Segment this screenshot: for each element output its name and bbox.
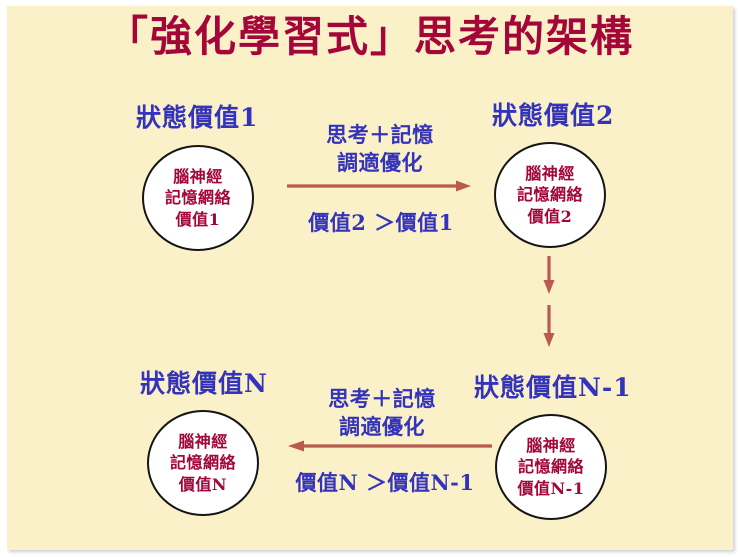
node-3-line-1: 腦神經: [526, 435, 576, 457]
arrow-bottom-left: [286, 438, 494, 454]
page-title: 「強化學習式」思考的架構: [0, 14, 740, 60]
slide-canvas: 「強化學習式」思考的架構 狀態價值1 腦神經 記憶網絡 價值1 狀態價值2 腦神…: [0, 0, 740, 557]
node-4-line-2: 記憶網絡: [170, 452, 236, 474]
node-state-n-minus-1[interactable]: 腦神經 記憶網絡 價值N-1: [495, 414, 607, 520]
node-1-line-2: 記憶網絡: [165, 187, 231, 209]
edge-top-label-above-1: 思考＋記憶: [290, 122, 470, 148]
state-label-1: 狀態價值1: [136, 98, 258, 134]
state-label-n: 狀態價值N: [140, 364, 268, 400]
slide-background: [7, 6, 733, 550]
state-label-2: 狀態價值2: [492, 96, 614, 132]
node-state-1[interactable]: 腦神經 記憶網絡 價值1: [142, 145, 254, 251]
node-3-line-3: 價值N-1: [518, 478, 585, 500]
node-1-line-1: 腦神經: [173, 166, 223, 188]
node-2-line-2: 記憶網絡: [517, 184, 583, 206]
state-label-n-minus-1: 狀態價值N-1: [474, 368, 632, 404]
arrow-right-down-1: [540, 256, 558, 296]
node-2-line-3: 價值2: [528, 206, 573, 228]
arrow-right-down-2: [540, 305, 558, 349]
edge-top-label-above-2: 調適優化: [290, 150, 470, 176]
node-4-line-3: 價值N: [179, 474, 227, 496]
node-4-line-1: 腦神經: [178, 431, 228, 453]
edge-top-label-below: 價值2 ＞價值1: [286, 210, 476, 236]
node-state-2[interactable]: 腦神經 記憶網絡 價值2: [494, 142, 606, 248]
edge-bottom-label-below: 價值N ＞價值N-1: [280, 470, 490, 496]
edge-bottom-label-above-2: 調適優化: [292, 414, 472, 440]
arrow-top-right: [285, 178, 475, 194]
node-state-n[interactable]: 腦神經 記憶網絡 價值N: [147, 410, 259, 516]
node-2-line-1: 腦神經: [525, 163, 575, 185]
node-3-line-2: 記憶網絡: [518, 456, 584, 478]
edge-bottom-label-above-1: 思考＋記憶: [292, 386, 472, 412]
node-1-line-3: 價值1: [176, 209, 221, 231]
